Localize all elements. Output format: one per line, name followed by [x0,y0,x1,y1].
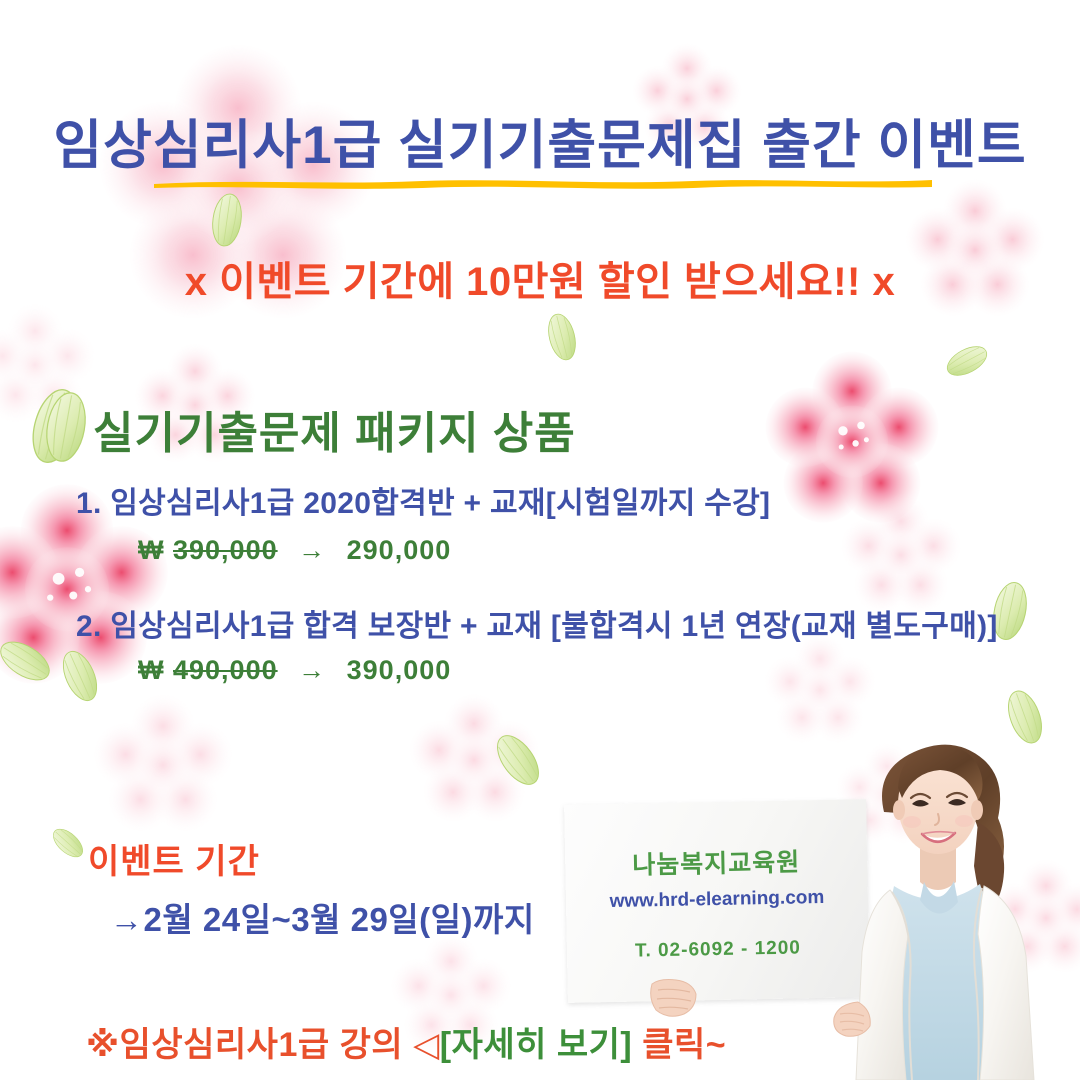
subtitle-discount-banner: x 이벤트 기간에 10만원 할인 받으세요!! x [0,249,1080,307]
package-item-2-title: 2. 임상심리사1급 합격 보장반 + 교재 [불합격시 1년 연장(교재 별도… [76,601,998,645]
cherry-blossom-icon [762,348,942,528]
currency-symbol: ₩ [138,535,164,565]
leaf-icon [0,613,70,710]
price-arrow-icon: → [286,535,338,565]
price-arrow-icon: → [286,655,338,685]
currency-symbol: ₩ [138,655,164,685]
leaf-icon [931,321,1003,401]
leaf-icon [34,635,126,717]
cherry-blossom-icon [0,300,100,430]
event-period-heading: 이벤트 기간 [88,834,260,883]
leaf-icon [483,723,554,797]
organization-name: 나눔복지교육원 [632,842,801,881]
cherry-blossom-icon [404,690,544,830]
original-price: 390,000 [173,535,278,565]
cta-prefix-text: ※임상심리사1급 강의 ◁ [86,1026,440,1064]
page-title: 임상심리사1급 실기기출문제집 출간 이벤트 [0,103,1080,179]
leaf-icon [34,386,98,468]
cta-suffix-text: 클릭~ [632,1026,726,1064]
cta-link-label[interactable]: [자세히 보기] [440,1026,633,1064]
package-section-heading: 실기기출문제 패키지 상품 [93,397,576,461]
promotional-poster: 임상심리사1급 실기기출문제집 출간 이벤트 x 이벤트 기간에 10만원 할인… [0,0,1080,1080]
event-period-dates: →2월 24일~3월 29일(일)까지 [110,893,535,941]
cta-detail-link[interactable]: ※임상심리사1급 강의 ◁[자세히 보기] 클릭~ [86,1017,726,1066]
package-item-1-price: ₩ 390,000 → 290,000 [138,535,451,566]
package-item-2-price: ₩ 490,000 → 390,000 [138,655,451,686]
discounted-price: 390,000 [347,655,452,685]
leaf-icon [202,189,251,250]
discounted-price: 290,000 [347,535,452,565]
package-item-1-title: 1. 임상심리사1급 2020합격반 + 교재[시험일까지 수강] [76,478,770,522]
leaf-icon [16,380,94,473]
signboard: 나눔복지교육원 www.hrd-elearning.com T. 02-6092… [564,799,870,1003]
original-price: 490,000 [173,655,278,685]
cherry-blossom-icon [88,690,238,840]
website-url[interactable]: www.hrd-elearning.com [609,887,824,913]
telephone-number: T. 02-6092 - 1200 [635,937,801,962]
leaf-icon [538,308,585,365]
model-photo-woman [828,726,1080,1080]
